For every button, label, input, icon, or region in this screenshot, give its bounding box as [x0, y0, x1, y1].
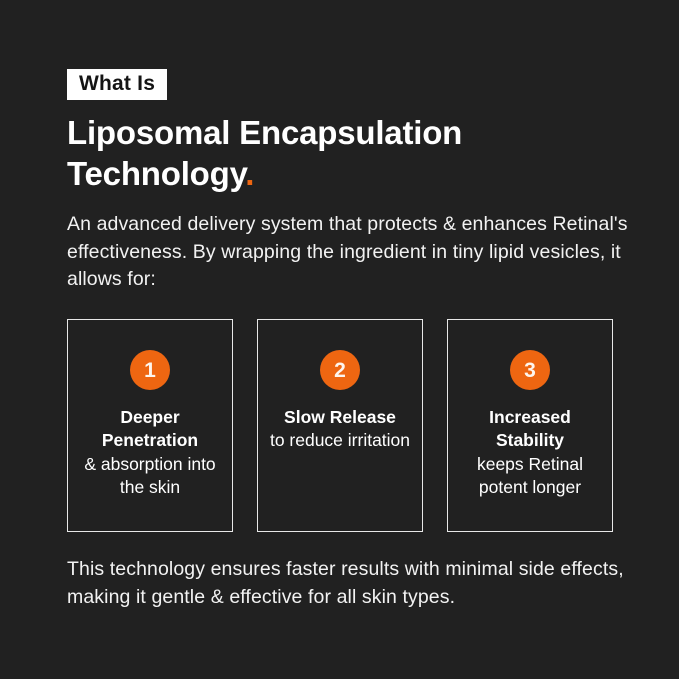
card-text-block: Slow Release to reduce irritation: [264, 406, 416, 453]
card-number-badge: 1: [130, 350, 170, 390]
card-subtitle: to reduce irritation: [270, 429, 410, 452]
card-title: Slow Release: [270, 406, 410, 429]
card-text-block: Deeper Penetration & absorption into the…: [68, 406, 232, 499]
card-subtitle: & absorption into the skin: [74, 453, 226, 500]
benefit-card: 2 Slow Release to reduce irritation: [257, 319, 423, 532]
card-number-badge: 2: [320, 350, 360, 390]
infographic-slide: What Is Liposomal Encapsulation Technolo…: [0, 0, 679, 679]
page-title: Liposomal Encapsulation Technology.: [67, 113, 627, 195]
benefit-card: 1 Deeper Penetration & absorption into t…: [67, 319, 233, 532]
benefit-card-row: 1 Deeper Penetration & absorption into t…: [67, 319, 613, 532]
closing-paragraph: This technology ensures faster results w…: [67, 556, 633, 611]
eyebrow-badge: What Is: [67, 69, 167, 100]
intro-paragraph: An advanced delivery system that protect…: [67, 211, 633, 294]
headline-line-2: Technology: [67, 155, 245, 192]
card-title: Increased Stability: [454, 406, 606, 453]
card-number-badge: 3: [510, 350, 550, 390]
card-title: Deeper Penetration: [74, 406, 226, 453]
accent-period: .: [245, 155, 254, 192]
card-text-block: Increased Stability keeps Retinal potent…: [448, 406, 612, 499]
headline-line-1: Liposomal Encapsulation: [67, 114, 462, 151]
benefit-card: 3 Increased Stability keeps Retinal pote…: [447, 319, 613, 532]
card-subtitle: keeps Retinal potent longer: [454, 453, 606, 500]
